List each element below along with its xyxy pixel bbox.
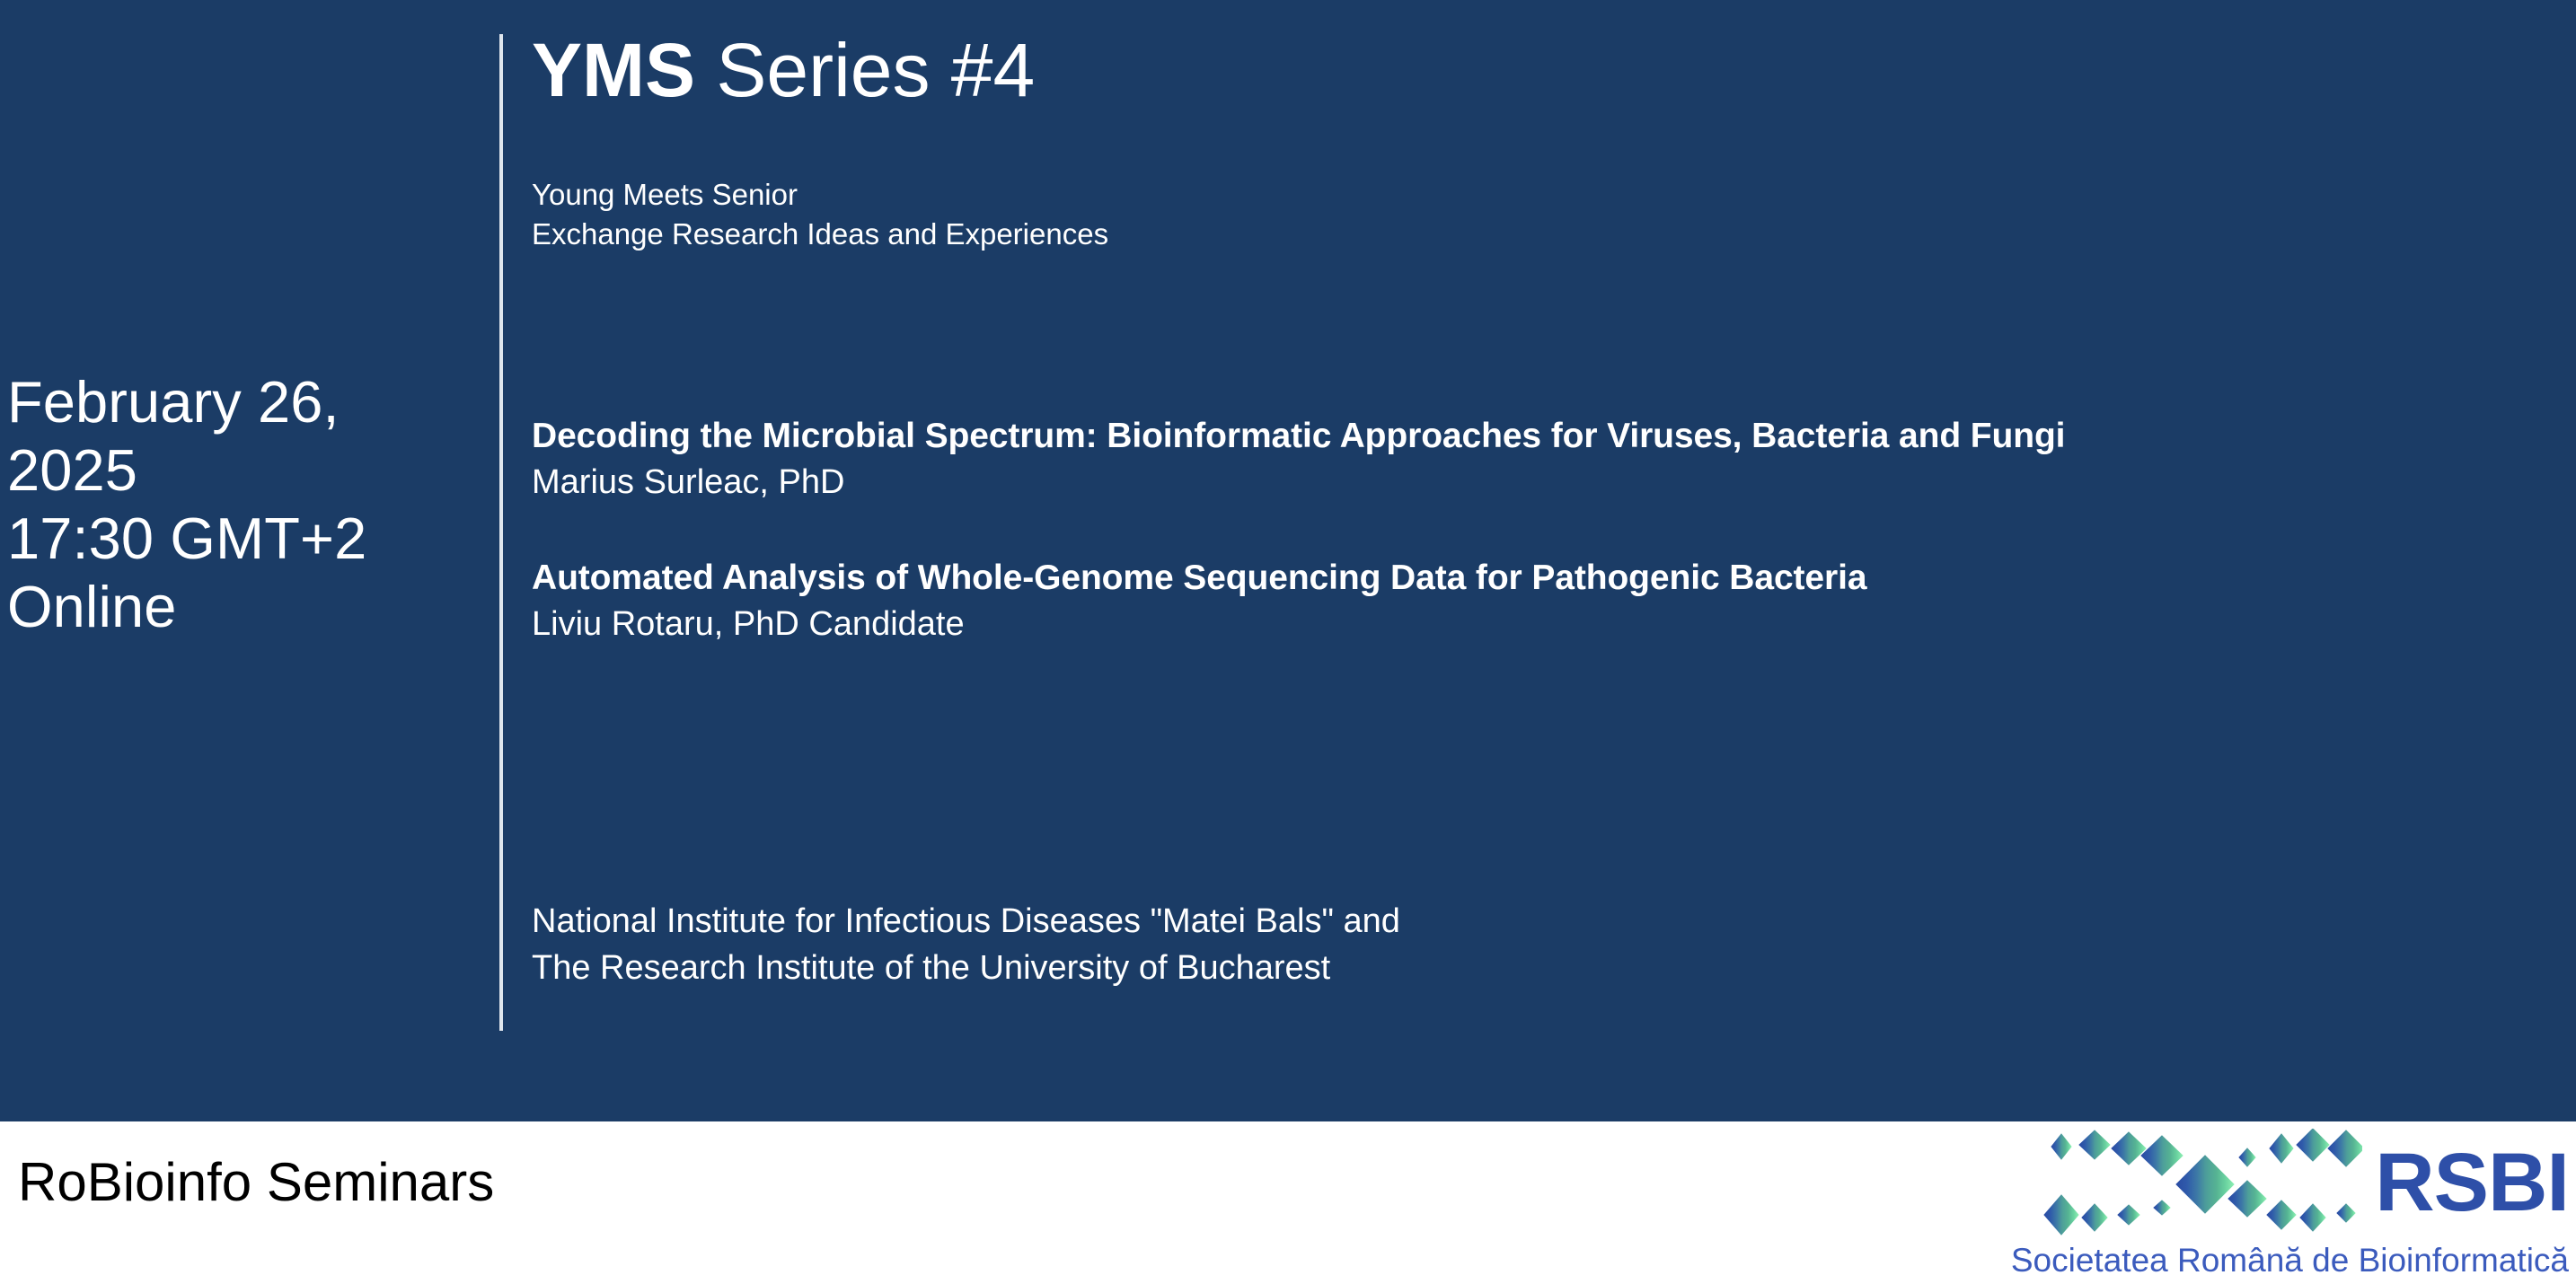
talk-speaker: Marius Surleac, PhD [532,460,2557,506]
affiliation-block: National Institute for Infectious Diseas… [532,898,1400,992]
event-details-column: February 26, 2025 17:30 GMT+2 Online [7,368,483,641]
series-subtitle-line-1: Young Meets Senior [532,175,1108,215]
talk-title: Automated Analysis of Whole-Genome Seque… [532,555,2557,602]
dna-helix-icon [2039,1129,2362,1236]
event-date: February 26, 2025 [7,368,479,505]
affiliation-line-2: The Research Institute of the University… [532,945,1400,991]
series-subtitle-line-2: Exchange Research Ideas and Experiences [532,215,1108,254]
talk-item: Automated Analysis of Whole-Genome Seque… [532,555,2557,646]
footer-title: RoBioinfo Seminars [18,1156,494,1209]
talk-item: Decoding the Microbial Spectrum: Bioinfo… [532,413,2557,505]
footer-bar: RoBioinfo Seminars [0,1121,2576,1284]
event-time: 17:30 GMT+2 [7,505,483,573]
series-title-acronym: YMS [532,28,695,112]
series-title-rest: Series #4 [695,28,1035,112]
rsbi-logo-top: RSBI [2039,1129,2569,1236]
rsbi-logo: RSBI Societatea Română de Bioinformatică [2011,1129,2569,1277]
rsbi-wordmark: RSBI [2375,1145,2569,1221]
series-title: YMS Series #4 [532,32,1035,108]
series-subtitle: Young Meets Senior Exchange Research Ide… [532,175,1108,254]
talk-list: Decoding the Microbial Spectrum: Bioinfo… [532,413,2557,698]
talk-speaker: Liviu Rotaru, PhD Candidate [532,602,2557,647]
poster-canvas: February 26, 2025 17:30 GMT+2 Online YMS… [0,0,2576,1284]
hero-panel: February 26, 2025 17:30 GMT+2 Online YMS… [0,0,2576,1121]
event-location: Online [7,573,483,641]
affiliation-line-1: National Institute for Infectious Diseas… [532,898,1400,945]
rsbi-tagline: Societatea Română de Bioinformatică [2011,1244,2569,1277]
talk-title: Decoding the Microbial Spectrum: Bioinfo… [532,413,2139,460]
column-divider [499,34,503,1031]
